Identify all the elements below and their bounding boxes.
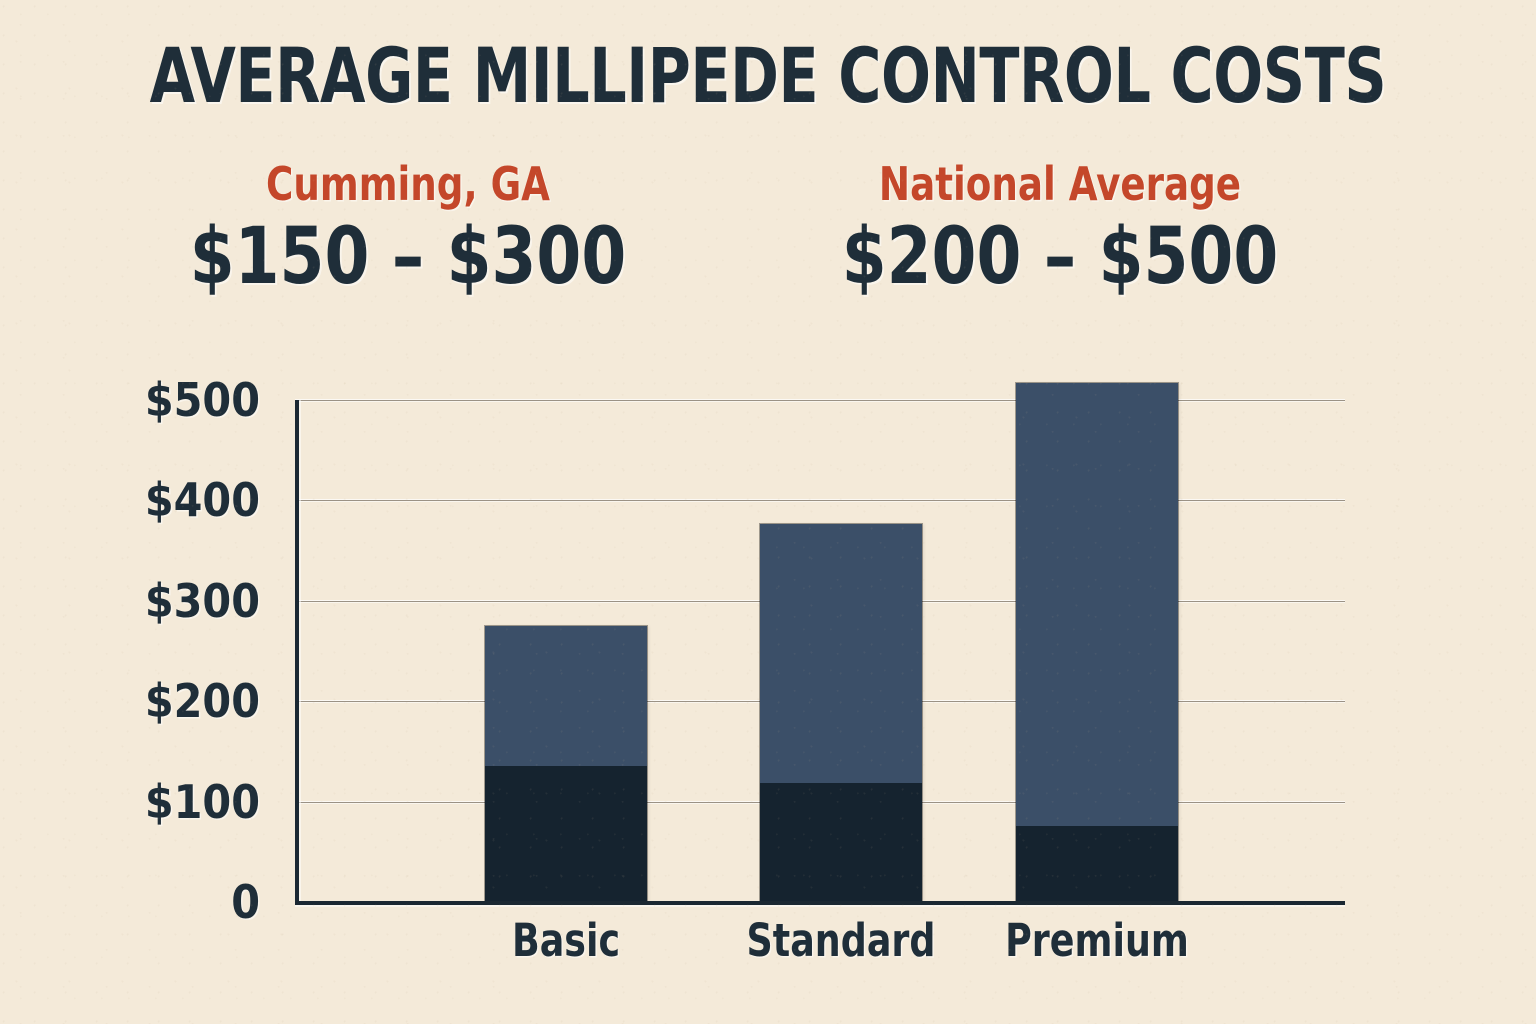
stat-value-local: $150 – $300 [169, 218, 647, 298]
bar-segment-upper-standard[interactable] [760, 524, 922, 783]
x-axis-line [295, 901, 1345, 905]
stat-label-national: National Average [826, 160, 1294, 208]
y-axis-label-200: $200 [145, 678, 260, 724]
y-axis-label-100: $100 [145, 779, 260, 825]
y-axis-line [295, 400, 299, 902]
gridline-400 [295, 499, 1345, 502]
bar-segment-lower-standard[interactable] [760, 783, 922, 902]
y-axis-label-400: $400 [145, 477, 260, 523]
page-title: AVERAGE MILLIPEDE CONTROL COSTS [108, 38, 1429, 114]
y-axis-label-300: $300 [145, 578, 260, 624]
bar-standard[interactable] [760, 524, 922, 903]
y-axis-label-500: $500 [145, 377, 260, 423]
x-axis-label-premium: Premium [980, 918, 1214, 963]
y-axis-tick-labels: 0$100$200$300$400$500 [0, 400, 278, 902]
millipede-control-cost-infographic: AVERAGE MILLIPEDE CONTROL COSTS Cumming,… [0, 0, 1536, 1024]
stat-block-national: National Average $200 – $500 [800, 160, 1320, 298]
bar-premium[interactable] [1016, 383, 1178, 902]
gridline-500 [295, 399, 1345, 402]
bar-segment-upper-premium[interactable] [1016, 383, 1178, 826]
bar-segment-lower-basic[interactable] [485, 766, 647, 902]
stat-value-national: $200 – $500 [821, 218, 1299, 298]
bar-basic[interactable] [485, 626, 647, 902]
bar-segment-upper-basic[interactable] [485, 626, 647, 767]
x-axis-label-basic: Basic [449, 918, 683, 963]
stat-label-local: Cumming, GA [174, 160, 642, 208]
chart-plot-area [295, 400, 1345, 902]
x-axis-label-standard: Standard [724, 918, 958, 963]
y-axis-label-0: 0 [231, 879, 260, 925]
bar-segment-lower-premium[interactable] [1016, 826, 1178, 902]
stat-block-local: Cumming, GA $150 – $300 [148, 160, 668, 298]
